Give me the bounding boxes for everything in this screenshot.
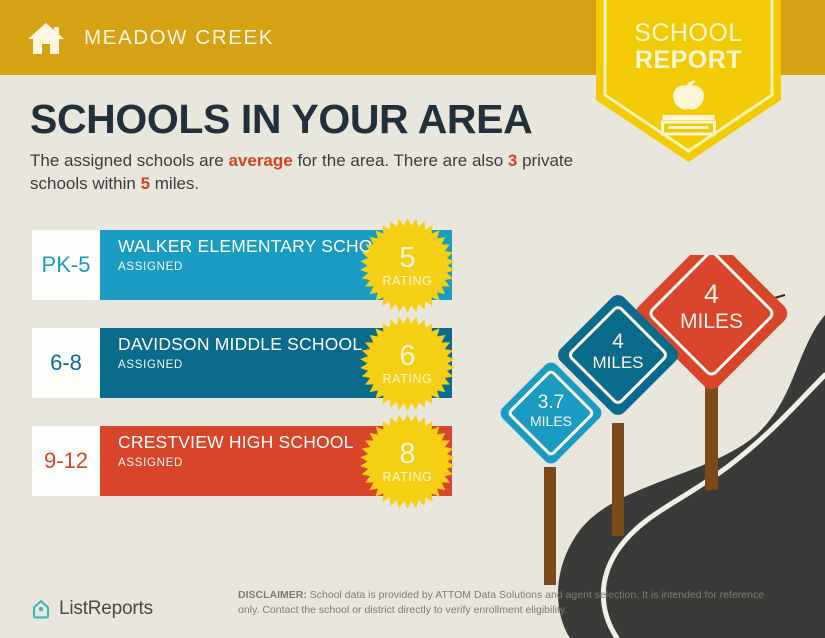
- school-report-badge: SCHOOL REPORT: [596, 0, 781, 162]
- sign-post-3: [705, 385, 718, 490]
- footer: ListReports DISCLAIMER: School data is p…: [0, 576, 825, 638]
- road-sign-3-unit: MILES: [680, 310, 743, 333]
- subtitle-highlight-miles: 5: [141, 174, 150, 193]
- listreports-logo-text: ListReports: [59, 598, 153, 620]
- starburst-icon: [360, 316, 455, 411]
- sign-post-2: [612, 423, 624, 536]
- page-subtitle: The assigned schools are average for the…: [30, 150, 590, 196]
- school-grade-box: 9-12: [32, 426, 100, 496]
- school-grade-label: 9-12: [44, 448, 88, 474]
- listreports-house-icon: [30, 598, 52, 620]
- road-sign-1-distance: 3.7: [538, 392, 564, 413]
- school-row[interactable]: 9-12 CRESTVIEW HIGH SCHOOL ASSIGNED 8 RA…: [32, 426, 452, 496]
- school-rating-badge: 6 RATING: [360, 316, 455, 411]
- starburst-icon: [360, 414, 455, 509]
- subtitle-text-1: The assigned schools are: [30, 151, 228, 170]
- school-grade-box: 6-8: [32, 328, 100, 398]
- road-sign-2-unit: MILES: [592, 353, 643, 372]
- school-grade-box: PK-5: [32, 230, 100, 300]
- subtitle-highlight-average: average: [228, 151, 292, 170]
- header-title: MEADOW CREEK: [84, 26, 274, 50]
- starburst-icon: [360, 218, 455, 313]
- infographic-root: 4 MILES 4 MILES 3.7 MILES: [0, 0, 825, 638]
- school-report-badge-shape: [596, 0, 781, 162]
- school-rating-badge: 8 RATING: [360, 414, 455, 509]
- subtitle-highlight-count: 3: [508, 151, 517, 170]
- road-sign-3-distance: 4: [704, 279, 719, 309]
- school-rating-badge: 5 RATING: [360, 218, 455, 313]
- disclaimer-text: DISCLAIMER: School data is provided by A…: [238, 588, 788, 618]
- disclaimer-body: School data is provided by ATTOM Data So…: [238, 589, 764, 616]
- road-sign-2-distance: 4: [612, 330, 624, 353]
- school-grade-label: 6-8: [50, 350, 82, 376]
- subtitle-text-2: for the area. There are also: [293, 151, 508, 170]
- school-list: PK-5 WALKER ELEMENTARY SCHOOL ASSIGNED 5…: [32, 230, 452, 524]
- listreports-logo[interactable]: ListReports: [30, 598, 153, 620]
- page-title: SCHOOLS IN YOUR AREA: [30, 96, 532, 143]
- school-row[interactable]: 6-8 DAVIDSON MIDDLE SCHOOL ASSIGNED 6 RA…: [32, 328, 452, 398]
- home-icon: [26, 18, 66, 58]
- sign-post-1: [544, 467, 556, 585]
- disclaimer-label: DISCLAIMER:: [238, 589, 307, 601]
- subtitle-text-4: miles.: [150, 174, 199, 193]
- school-grade-label: PK-5: [42, 252, 91, 278]
- road-sign-1-unit: MILES: [530, 413, 572, 429]
- school-row[interactable]: PK-5 WALKER ELEMENTARY SCHOOL ASSIGNED 5…: [32, 230, 452, 300]
